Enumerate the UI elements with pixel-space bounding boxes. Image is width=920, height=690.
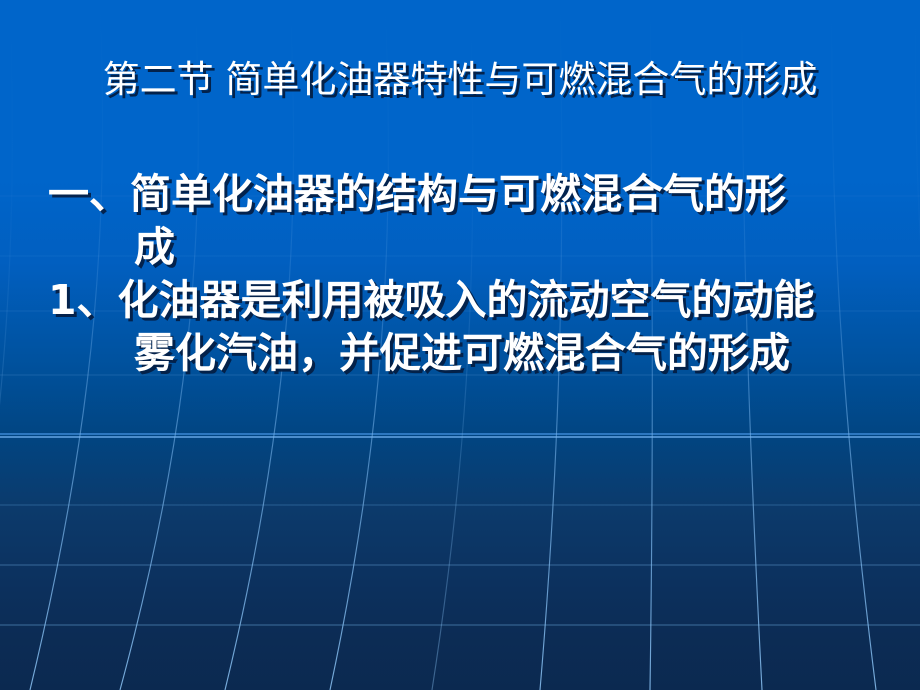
body-line: 雾化汽油，并促进可燃混合气的形成 (48, 327, 878, 380)
body-line: 成 (48, 221, 878, 274)
presentation-slide: 第二节 简单化油器特性与可燃混合气的形成 一、简单化油器的结构与可燃混合气的形 … (0, 0, 920, 690)
body-line: 一、简单化油器的结构与可燃混合气的形 (48, 168, 878, 221)
slide-text-layer: 第二节 简单化油器特性与可燃混合气的形成 一、简单化油器的结构与可燃混合气的形 … (0, 0, 920, 690)
page-title: 第二节 简单化油器特性与可燃混合气的形成 (0, 58, 920, 102)
slide-body: 一、简单化油器的结构与可燃混合气的形 成 1、化油器是利用被吸入的流动空气的动能… (48, 168, 878, 380)
body-line: 1、化油器是利用被吸入的流动空气的动能 (48, 274, 878, 327)
